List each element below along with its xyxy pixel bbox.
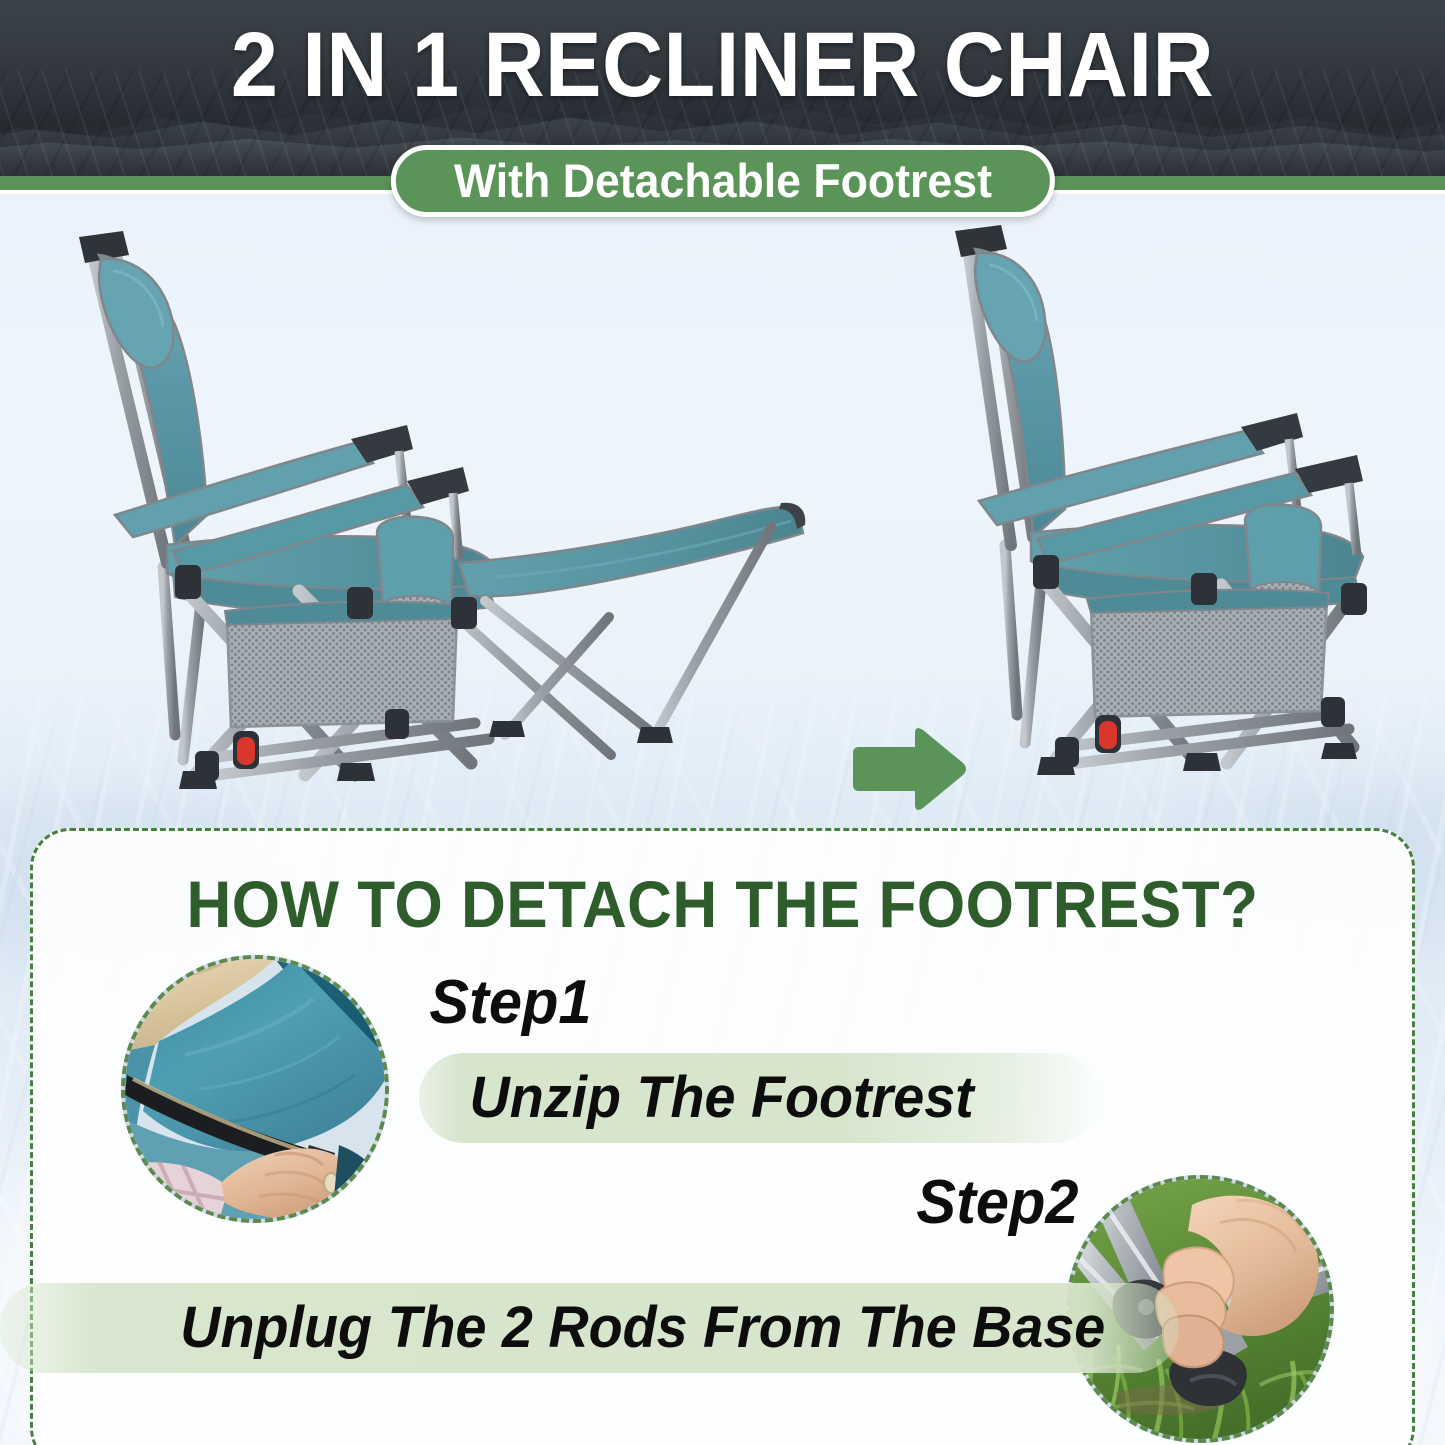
subtitle-badge-label: With Detachable Footrest [454,157,992,205]
subtitle-badge: With Detachable Footrest [390,145,1054,217]
page-title: 2 IN 1 RECLINER CHAIR [58,17,1387,113]
step-1-label: Step1 [429,971,591,1035]
release-knob [233,731,259,769]
chair-without-footrest [945,215,1405,815]
step-2-text-pill: Unplug The 2 Rods From The Base [0,1283,1179,1373]
step-2-text: Unplug The 2 Rods From The Base [181,1298,1106,1358]
step-1-text: Unzip The Footrest [470,1068,974,1128]
arrow-right-icon [847,723,971,815]
instructions-panel: HOW TO DETACH THE FOOTREST? [30,828,1415,1445]
chair-with-footrest-illustration [55,215,845,815]
step-2-label: Step2 [917,1171,1079,1235]
infographic-canvas: 2 IN 1 RECLINER CHAIR With Detachable Fo… [0,0,1445,1445]
chair-without-footrest-illustration [945,215,1405,815]
product-showcase [0,215,1445,815]
release-knob [1095,715,1121,753]
step-1-text-pill: Unzip The Footrest [419,1053,1099,1143]
step-row-2: Step2 Unplug The 2 Rods From The Base [33,1161,1412,1445]
panel-title: HOW TO DETACH THE FOOTREST? [74,869,1370,939]
chair-with-footrest [55,215,845,815]
